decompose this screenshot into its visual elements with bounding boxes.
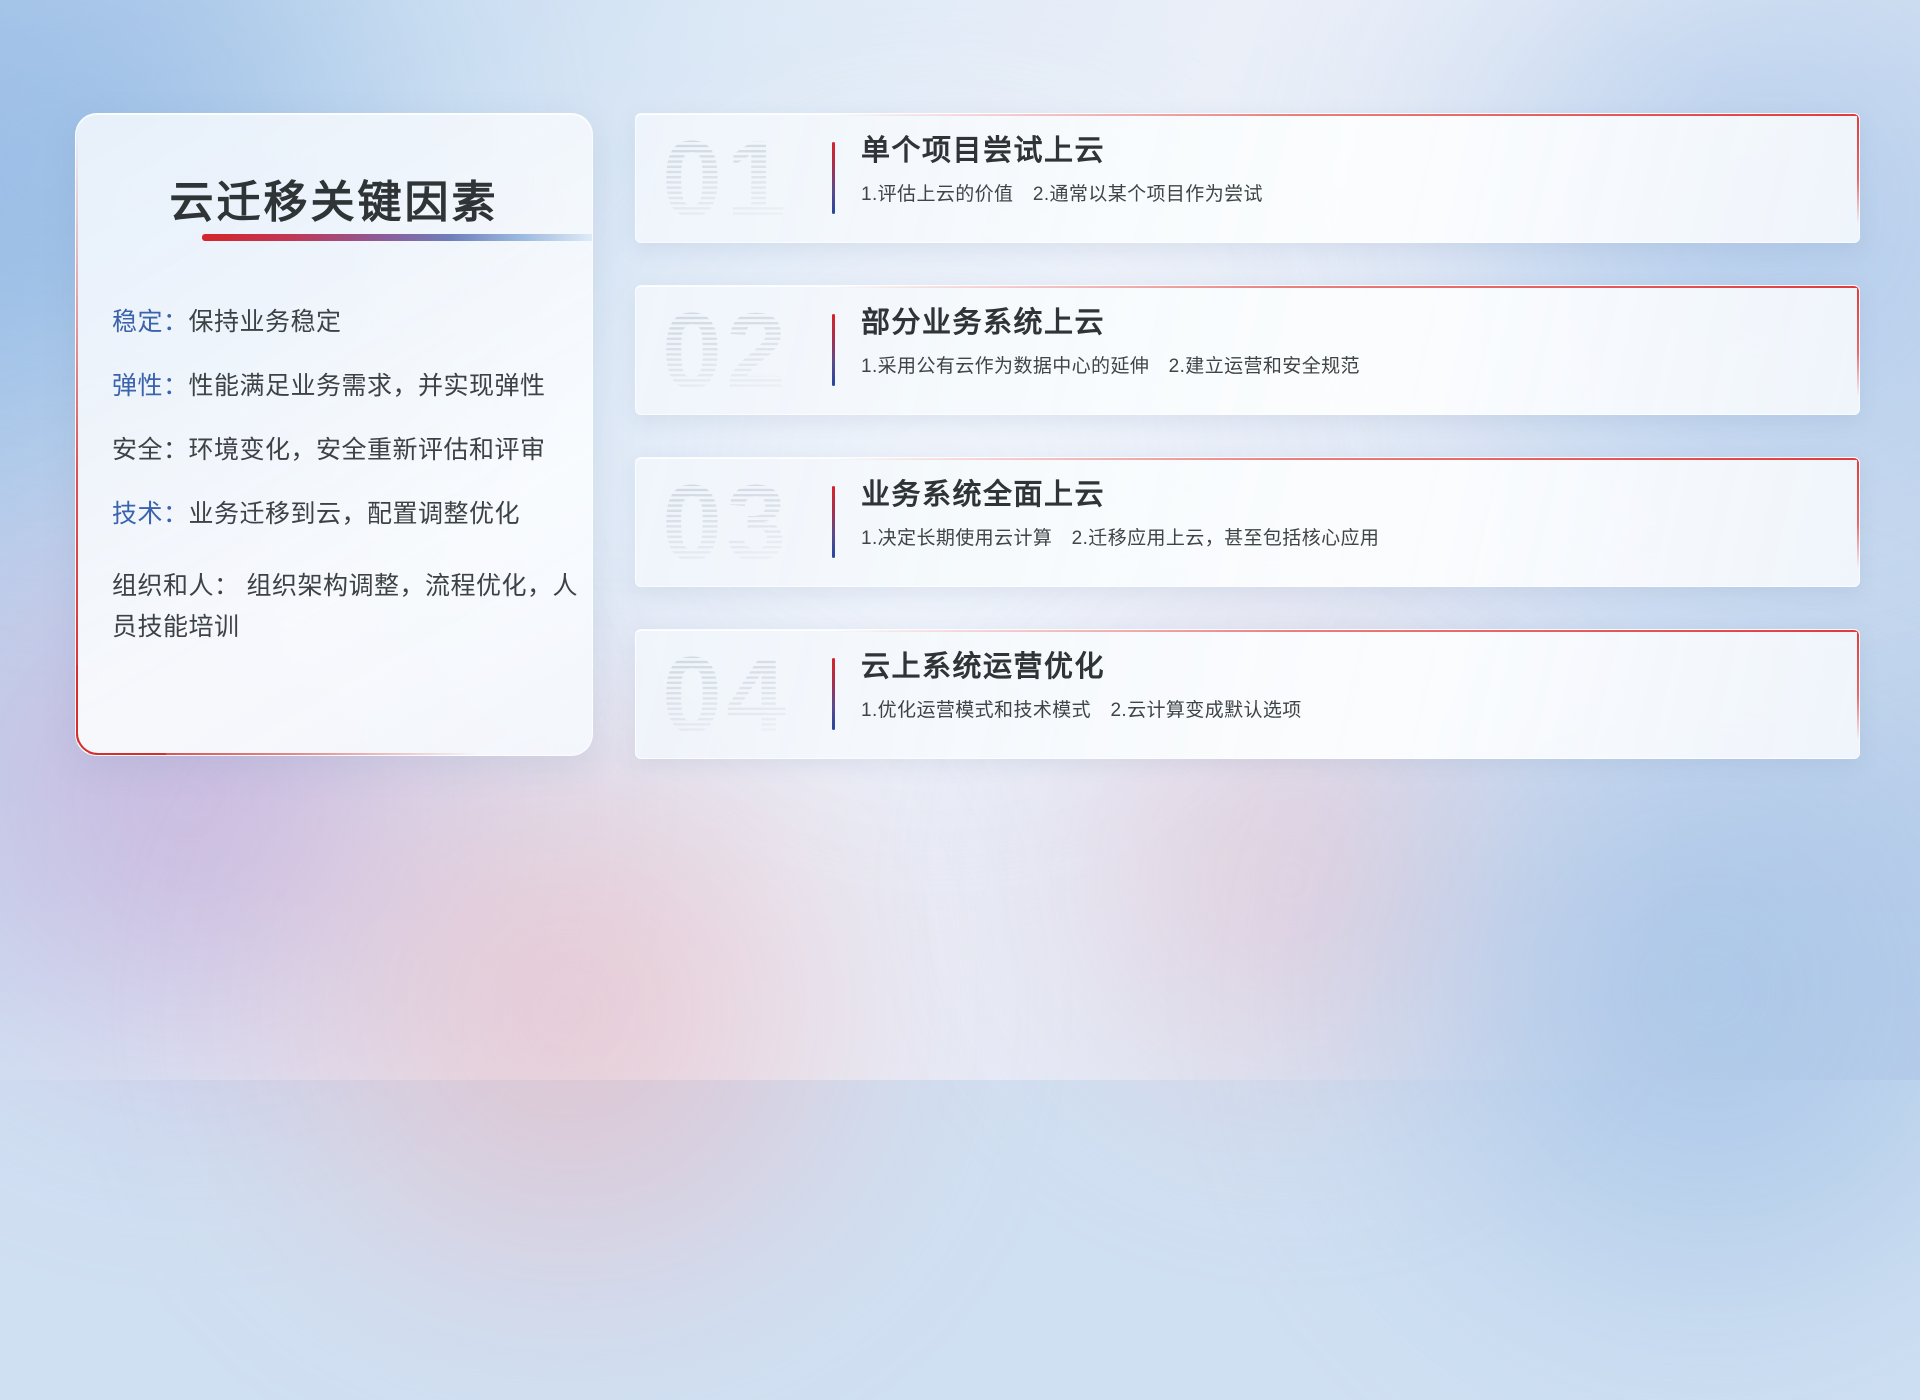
list-item: 组织和人： 组织架构调整，流程优化，人员技能培训 [110,566,578,647]
stage-divider-bar [832,142,835,214]
stage-card-description: 1.采用公有云作为数据中心的延伸 2.建立运营和安全规范 [861,355,1835,380]
stage-card-body: 云上系统运营优化 1.优化运营模式和技术模式 2.云计算变成默认选项 [861,650,1835,723]
stage-card[interactable]: 02 部分业务系统上云 1.采用公有云作为数据中心的延伸 2.建立运营和安全规范 [635,285,1860,415]
stage-card-list: 01 单个项目尝试上云 1.评估上云的价值 2.通常以某个项目作为尝试 [635,113,1860,801]
key-factors-list: 稳定： 保持业务稳定 弹性： 性能满足业务需求，并实现弹性 安全： 环境变化，安… [110,310,578,647]
stage-card-description: 1.决定长期使用云计算 2.迁移应用上云，甚至包括核心应用 [861,527,1835,552]
stage-card-body: 单个项目尝试上云 1.评估上云的价值 2.通常以某个项目作为尝试 [861,134,1835,207]
stage-card-title: 业务系统全面上云 [861,478,1835,513]
stage-card[interactable]: 03 业务系统全面上云 1.决定长期使用云计算 2.迁移应用上云，甚至包括核心应… [635,457,1860,587]
key-factors-panel: 云迁移关键因素 稳定： 保持业务稳定 弹性： 性能满足业务需求，并实现弹性 安全… [75,113,593,756]
panel-corner-accent [76,665,166,755]
list-item-value: 业务迁移到云，配置调整优化 [189,502,521,527]
stage-number-02: 02 [660,296,850,404]
list-item-value: 保持业务稳定 [189,310,342,335]
list-item-value: 环境变化，安全重新评估和评审 [189,438,546,463]
stage-divider-bar [832,658,835,730]
svg-text:03: 03 [662,468,790,576]
stage-card-description: 1.优化运营模式和技术模式 2.云计算变成默认选项 [861,699,1835,724]
stage-card-description: 1.评估上云的价值 2.通常以某个项目作为尝试 [861,183,1835,208]
stage-number-03: 03 [660,468,850,576]
stage-number-01: 01 [660,124,850,232]
list-item: 安全： 环境变化，安全重新评估和评审 [110,438,578,463]
stage-card-title: 单个项目尝试上云 [861,134,1835,169]
stage-card-title: 部分业务系统上云 [861,306,1835,341]
list-item-label: 技术： [112,502,189,527]
stage-card-body: 业务系统全面上云 1.决定长期使用云计算 2.迁移应用上云，甚至包括核心应用 [861,478,1835,551]
stage-divider-bar [832,314,835,386]
list-item-label: 安全： [112,438,189,463]
list-item: 稳定： 保持业务稳定 [110,310,578,335]
stage-card-title: 云上系统运营优化 [861,650,1835,685]
list-item-label: 稳定： [112,310,189,335]
svg-text:02: 02 [662,296,790,404]
list-item: 技术： 业务迁移到云，配置调整优化 [110,502,578,527]
title-underline-gradient [202,234,593,241]
stage-number-04: 04 [660,640,850,748]
page-title: 云迁移关键因素 [76,166,592,230]
svg-text:01: 01 [662,124,790,232]
list-item: 弹性： 性能满足业务需求，并实现弹性 [110,374,578,399]
list-item-label: 弹性： [112,374,189,399]
list-item-label: 组织和人： [112,572,240,600]
stage-card-body: 部分业务系统上云 1.采用公有云作为数据中心的延伸 2.建立运营和安全规范 [861,306,1835,379]
svg-text:04: 04 [662,640,790,748]
list-item-value: 性能满足业务需求，并实现弹性 [189,374,546,399]
stage-card[interactable]: 01 单个项目尝试上云 1.评估上云的价值 2.通常以某个项目作为尝试 [635,113,1860,243]
stage-card[interactable]: 04 云上系统运营优化 1.优化运营模式和技术模式 2.云计算变成默认选项 [635,629,1860,759]
stage-divider-bar [832,486,835,558]
